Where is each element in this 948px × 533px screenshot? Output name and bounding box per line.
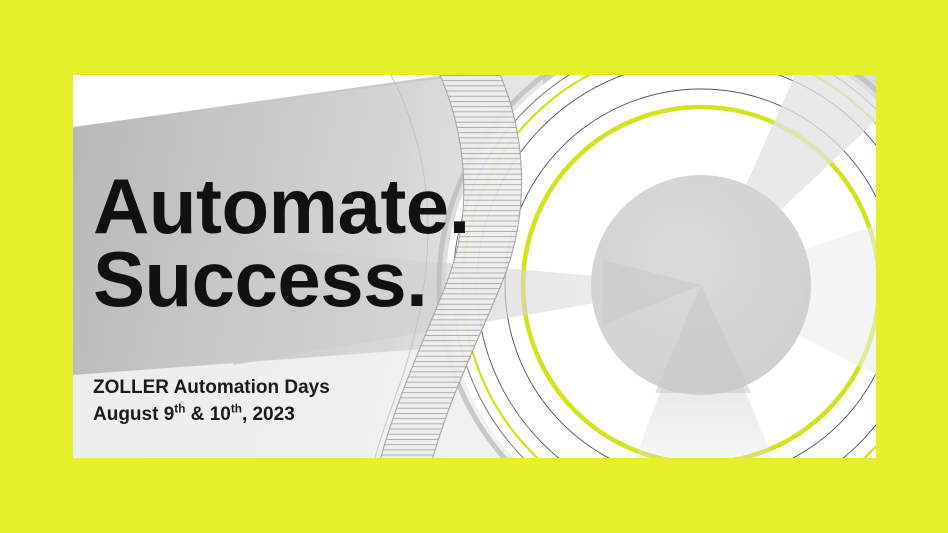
date-day-2-ordinal: th	[231, 403, 242, 416]
subtitle: ZOLLER Automation Days August 9th & 10th…	[93, 375, 330, 429]
subtitle-date: August 9th & 10th, 2023	[93, 402, 330, 429]
headline: Automate. Success.	[93, 170, 470, 315]
date-day-1-ordinal: th	[174, 403, 185, 416]
subtitle-event-name: ZOLLER Automation Days	[93, 375, 330, 402]
date-day-2: 10	[210, 404, 231, 425]
date-separator: &	[185, 404, 209, 425]
date-prefix: August	[93, 404, 164, 425]
banner-panel: Automate. Success. ZOLLER Automation Day…	[73, 75, 876, 458]
headline-line-1: Automate.	[93, 170, 470, 243]
date-day-1: 9	[164, 404, 175, 425]
date-suffix: , 2023	[242, 404, 295, 425]
banner-canvas: Automate. Success. ZOLLER Automation Day…	[0, 0, 948, 533]
headline-line-2: Success.	[93, 243, 470, 316]
